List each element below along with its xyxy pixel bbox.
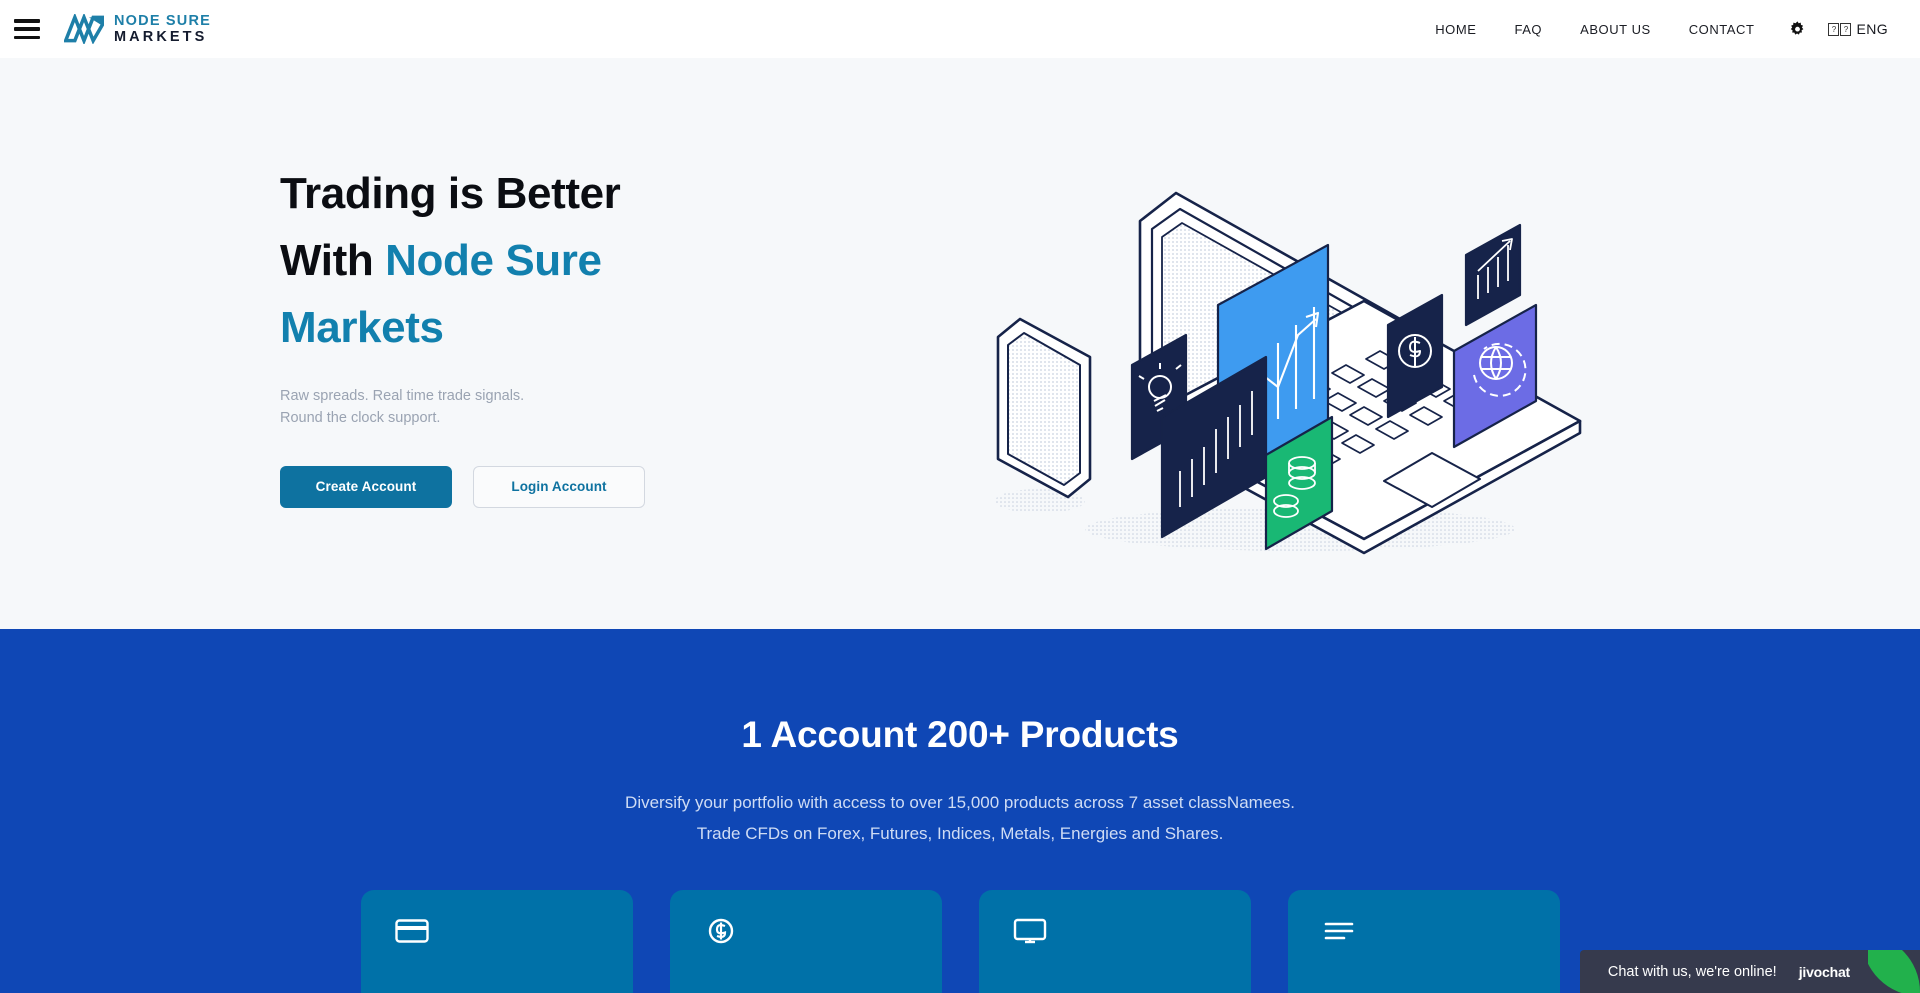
site-header: NODE SURE MARKETS HOME FAQ ABOUT US CONT… <box>0 0 1920 58</box>
monitor-chart-icon <box>1013 916 1047 946</box>
product-card[interactable] <box>670 890 942 993</box>
hero-title-line2-plain: With <box>280 236 385 285</box>
nav-item-contact[interactable]: CONTACT <box>1670 22 1774 37</box>
list-lines-icon <box>1322 916 1356 946</box>
jivochat-leaf-icon[interactable] <box>1868 950 1920 993</box>
credit-card-icon <box>395 916 429 946</box>
hero-title-line1: Trading is Better <box>280 169 620 218</box>
product-card[interactable] <box>1288 890 1560 993</box>
gear-icon <box>1789 21 1806 38</box>
hero-subtitle: Raw spreads. Real time trade signals. Ro… <box>280 385 840 429</box>
hero-title-line3-accent: Markets <box>280 303 444 352</box>
hero-subtitle-line2: Round the clock support. <box>280 410 440 426</box>
hero-actions: Create Account Login Account <box>280 466 840 508</box>
logo-text-bottom: MARKETS <box>114 30 211 45</box>
product-cards <box>361 890 1560 993</box>
login-account-button[interactable]: Login Account <box>473 466 645 508</box>
chat-bubble[interactable]: Chat with us, we're online! jivochat <box>1580 950 1868 993</box>
hamburger-bar <box>14 27 40 31</box>
isometric-laptop-trading-illustration <box>980 129 1600 559</box>
create-account-button[interactable]: Create Account <box>280 466 452 508</box>
main-navigation: HOME FAQ ABOUT US CONTACT ?? ENG <box>1416 21 1892 38</box>
hero-subtitle-line1: Raw spreads. Real time trade signals. <box>280 388 524 404</box>
hero-title-line2-accent: Node Sure <box>385 236 601 285</box>
product-card[interactable] <box>979 890 1251 993</box>
chat-brand-label: jivochat <box>1799 964 1850 980</box>
flag-icon: ?? <box>1828 23 1851 36</box>
chat-message: Chat with us, we're online! <box>1608 964 1777 980</box>
settings-button[interactable] <box>1773 21 1822 38</box>
hero-copy: Trading is Better With Node Sure Markets… <box>280 160 840 528</box>
logo-text-top: NODE SURE <box>114 14 211 29</box>
node-sure-monogram-icon <box>64 14 104 44</box>
hamburger-icon[interactable] <box>14 19 40 39</box>
chat-widget[interactable]: Chat with us, we're online! jivochat <box>1580 950 1920 993</box>
products-title: 1 Account 200+ Products <box>741 714 1178 756</box>
nav-item-about-us[interactable]: ABOUT US <box>1561 22 1670 37</box>
page-title: Trading is Better With Node Sure Markets <box>280 160 840 361</box>
nav-item-home[interactable]: HOME <box>1416 22 1495 37</box>
product-card[interactable] <box>361 890 633 993</box>
hamburger-bar <box>14 36 40 40</box>
hamburger-bar <box>14 19 40 23</box>
dollar-coin-icon <box>704 916 738 946</box>
hero-illustration <box>840 129 1740 559</box>
language-label: ENG <box>1856 21 1888 37</box>
language-selector[interactable]: ?? ENG <box>1822 21 1892 37</box>
hero-section: Trading is Better With Node Sure Markets… <box>0 58 1920 629</box>
nav-item-faq[interactable]: FAQ <box>1495 22 1561 37</box>
brand-logo[interactable]: NODE SURE MARKETS <box>64 14 211 45</box>
products-description: Diversify your portfolio with access to … <box>620 787 1300 849</box>
products-section: 1 Account 200+ Products Diversify your p… <box>0 629 1920 993</box>
